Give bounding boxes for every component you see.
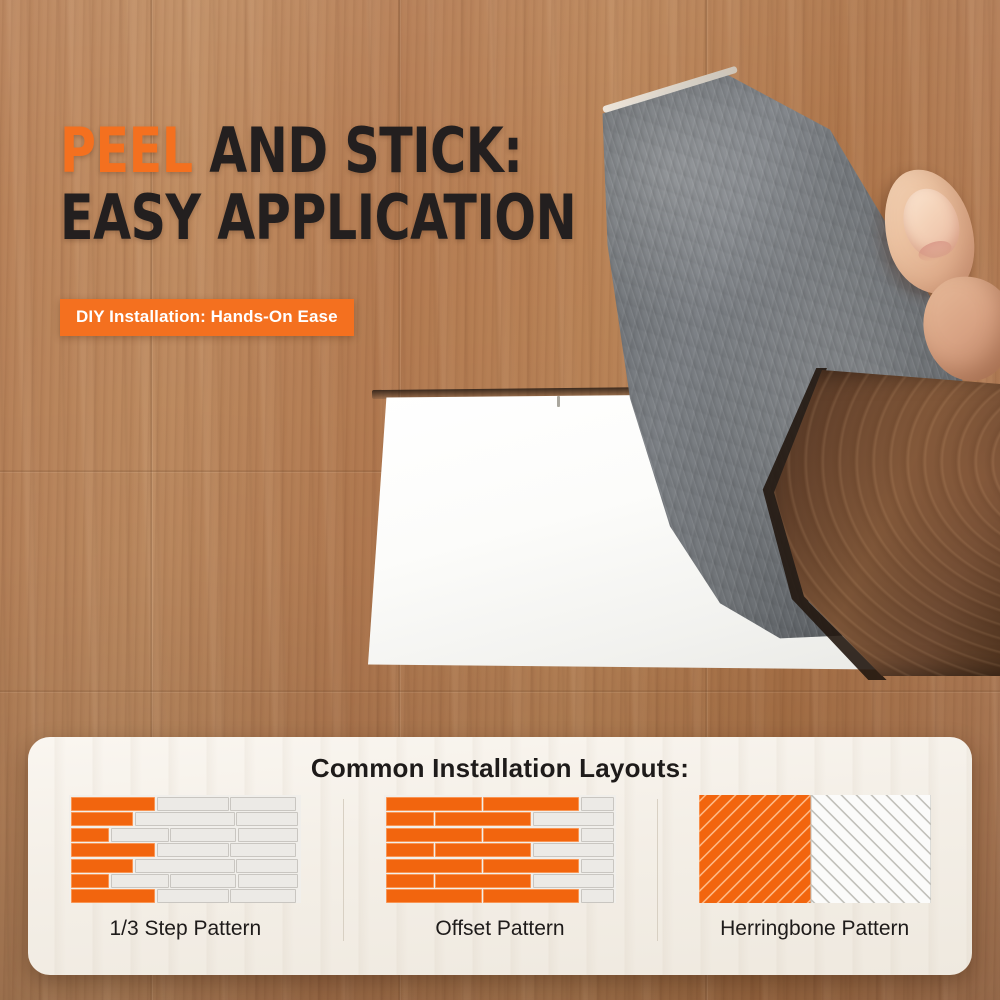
headline: PEEL AND STICK: EASY APPLICATION — [60, 122, 700, 246]
headline-highlight-peel: PEEL — [60, 114, 193, 187]
pattern-tile — [157, 797, 229, 811]
pattern-tile — [581, 828, 614, 842]
pattern-tile — [435, 874, 531, 888]
pattern-tile — [157, 889, 229, 903]
pattern-tile — [236, 859, 298, 873]
pattern-tile — [386, 812, 434, 826]
pattern-tile — [170, 874, 236, 888]
pattern-tile — [386, 843, 434, 857]
hand — [878, 150, 1000, 380]
pattern-tile — [435, 812, 531, 826]
pattern-tile — [238, 828, 299, 842]
pattern-tile — [581, 859, 614, 873]
pattern-label-third-step: 1/3 Step Pattern — [109, 917, 261, 941]
pattern-tile — [71, 874, 109, 888]
floor-plank-seam — [0, 690, 1000, 693]
pattern-tile — [533, 874, 614, 888]
headline-line-2: EASY APPLICATION — [60, 189, 623, 246]
pattern-tile — [386, 859, 482, 873]
pattern-tile — [111, 874, 169, 888]
pattern-tile — [135, 812, 235, 826]
herringbone-chevrons — [699, 795, 931, 903]
pattern-tile — [386, 889, 482, 903]
pattern-tile — [236, 812, 298, 826]
pattern-tile — [483, 797, 579, 811]
pattern-tile — [230, 889, 296, 903]
pattern-tile — [386, 797, 482, 811]
pattern-tile — [135, 859, 235, 873]
pattern-tile — [533, 843, 614, 857]
pattern-label-herringbone: Herringbone Pattern — [720, 917, 909, 941]
pattern-label-offset: Offset Pattern — [435, 917, 564, 941]
pattern-tile — [533, 812, 614, 826]
pattern-tile — [483, 828, 579, 842]
pattern-tile — [483, 889, 579, 903]
pattern-tile — [157, 843, 229, 857]
pattern-herringbone: Herringbone Pattern — [657, 795, 972, 975]
herringbone-diagram — [699, 795, 931, 903]
pattern-tile — [230, 843, 296, 857]
pattern-third-step: 1/3 Step Pattern — [28, 795, 343, 975]
pattern-tile — [111, 828, 169, 842]
pattern-tile — [71, 797, 155, 811]
pattern-tile — [581, 797, 614, 811]
offset-diagram — [384, 795, 616, 903]
pattern-tile — [386, 828, 482, 842]
third-step-diagram — [69, 795, 301, 903]
headline-line-1: PEEL AND STICK: — [60, 122, 623, 179]
pattern-tile — [386, 874, 434, 888]
pattern-offset: Offset Pattern — [343, 795, 658, 975]
pattern-tile — [238, 874, 299, 888]
pattern-tile — [71, 812, 133, 826]
pattern-tile — [71, 843, 155, 857]
diy-badge: DIY Installation: Hands-On Ease — [60, 299, 354, 336]
pattern-tile — [483, 859, 579, 873]
pattern-tile — [435, 843, 531, 857]
pattern-tile — [170, 828, 236, 842]
headline-line-1-rest: AND STICK: — [193, 114, 523, 187]
panel-title: Common Installation Layouts: — [28, 753, 972, 784]
pattern-tile — [230, 797, 296, 811]
pattern-columns: 1/3 Step Pattern Offset Pattern Herringb… — [28, 795, 972, 975]
pattern-tile — [71, 889, 155, 903]
pattern-tile — [71, 859, 133, 873]
pattern-tile — [71, 828, 109, 842]
pattern-tile — [581, 889, 614, 903]
installation-layouts-panel: Common Installation Layouts: 1/3 Step Pa… — [28, 737, 972, 975]
